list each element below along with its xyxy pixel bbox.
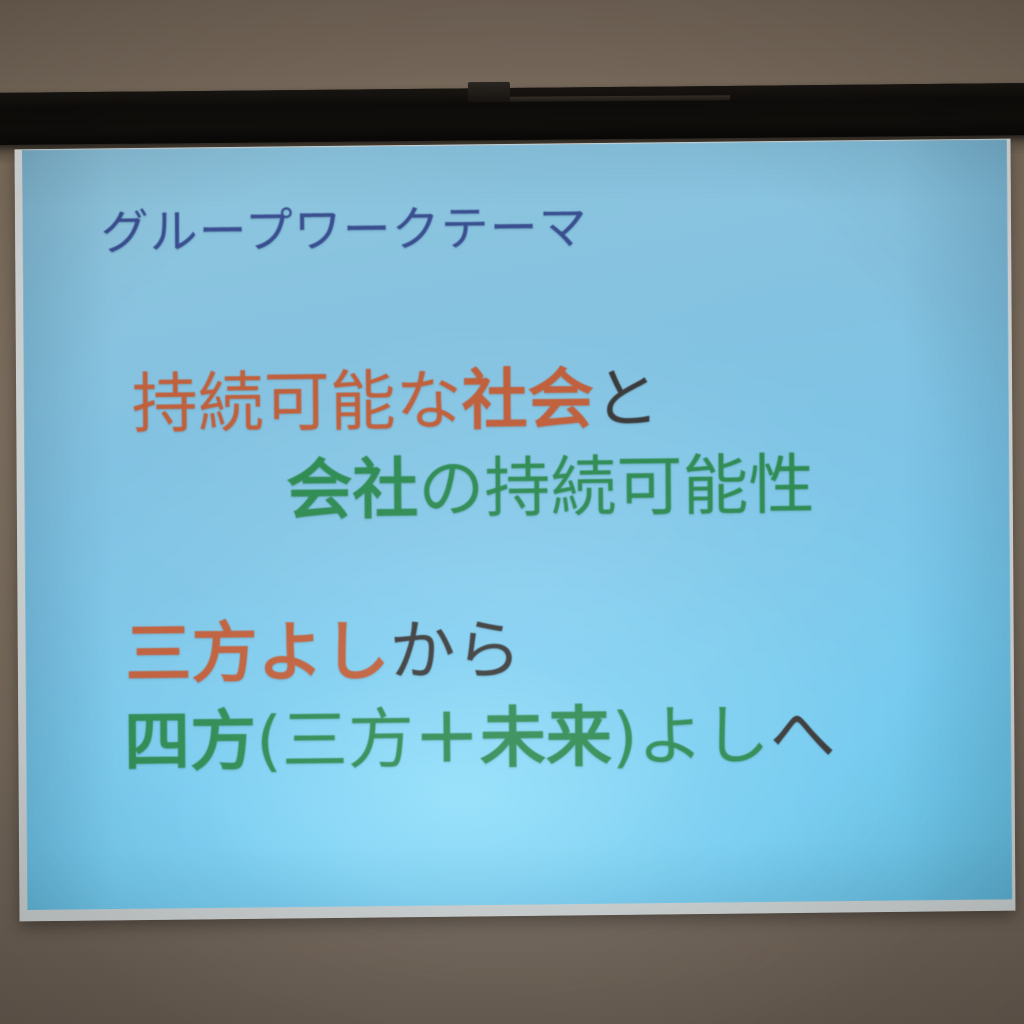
slide-text-line-4-segment-5: へ	[769, 696, 836, 774]
slide-text-line-4: 四方(三方＋未来)よしへ	[26, 689, 1012, 788]
slide-text-line-4-segment-2: (三方	[256, 701, 414, 780]
slide-text-line-3: 三方よしから	[25, 601, 1011, 700]
slide-text-line-2: 会社の持続可能性	[24, 439, 1010, 538]
slide-text-line-1-segment-3: と	[593, 360, 660, 438]
slide-text-line-2-segment-1: 会社	[286, 451, 419, 529]
slide-text-line-4-segment-3: ＋未来	[414, 699, 613, 778]
slide-text-line-4-segment-4: )よし	[612, 697, 770, 776]
slide-text-line-1-segment-1: 持続可能な	[132, 362, 463, 443]
slide-content: グループワークテーマ 持続可能な社会と 会社の持続可能性 三方よしから 四方(三…	[22, 139, 1012, 910]
slide-text-block-1: 持続可能な社会と 会社の持続可能性	[23, 351, 1009, 538]
projected-slide: グループワークテーマ 持続可能な社会と 会社の持続可能性 三方よしから 四方(三…	[22, 139, 1012, 910]
slide-text-block-2: 三方よしから 四方(三方＋未来)よしへ	[25, 601, 1011, 788]
slide-text-line-3-segment-2: から	[389, 612, 522, 690]
projector-screen-roller-bar	[0, 83, 1024, 145]
slide-text-line-1: 持続可能な社会と	[23, 351, 1009, 450]
slide-text-line-4-segment-1: 四方	[124, 703, 257, 781]
slide-title: グループワークテーマ	[100, 188, 588, 263]
projector-screen-bracket	[468, 82, 510, 102]
photo-scene: グループワークテーマ 持続可能な社会と 会社の持続可能性 三方よしから 四方(三…	[0, 0, 1024, 1024]
slide-text-line-2-segment-2: の持続可能性	[418, 446, 815, 527]
slide-text-line-3-segment-1: 三方よし	[125, 613, 390, 693]
slide-text-line-1-segment-2: 社会	[461, 361, 594, 439]
